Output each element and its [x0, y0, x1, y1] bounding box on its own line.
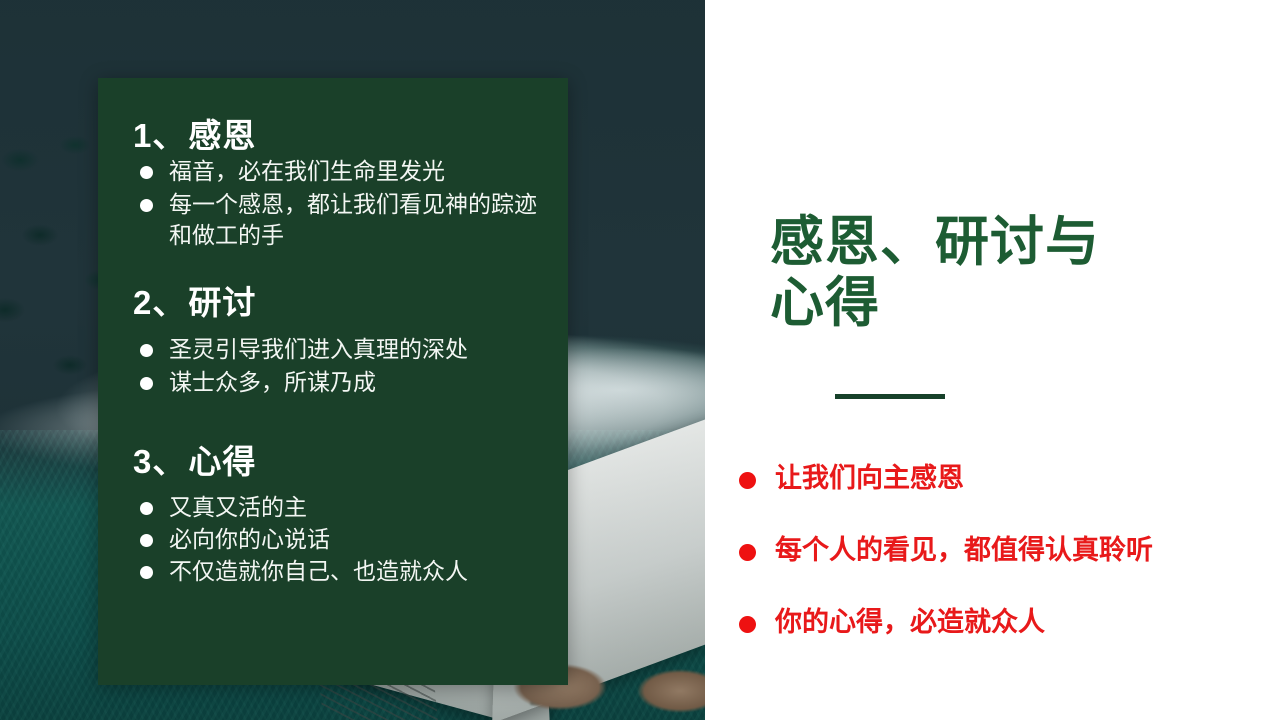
- section-3-title: 心得: [188, 443, 256, 480]
- list-item: 谋士众多，所谋乃成: [133, 367, 542, 398]
- right-panel: 感恩、研讨与 心得 让我们向主感恩 每个人的看见，都值得认真聆听 你的心得，必造…: [705, 0, 1280, 720]
- list-item: 福音，必在我们生命里发光: [133, 156, 542, 187]
- section-2-heading: 2、研讨: [133, 285, 542, 321]
- section-1-number: 1、: [133, 117, 186, 154]
- list-item: 又真又活的主: [133, 492, 542, 523]
- content-card: 1、感恩 福音，必在我们生命里发光 每一个感恩，都让我们看见神的踪迹和做工的手 …: [98, 78, 568, 685]
- page-title-line-2: 心得: [770, 273, 1240, 334]
- key-point-item: 你的心得，必造就众人: [725, 607, 1270, 638]
- section-1-title: 感恩: [188, 117, 256, 154]
- section-3-number: 3、: [133, 443, 186, 480]
- key-point-item: 每个人的看见，都值得认真聆听: [725, 535, 1270, 566]
- slide-canvas: 1、感恩 福音，必在我们生命里发光 每一个感恩，都让我们看见神的踪迹和做工的手 …: [0, 0, 1280, 720]
- section-3-list: 又真又活的主 必向你的心说话 不仅造就你自己、也造就众人: [133, 492, 542, 587]
- key-point-item: 让我们向主感恩: [725, 463, 1270, 494]
- list-item: 必向你的心说话: [133, 524, 542, 555]
- page-title-line-1: 感恩、研讨与: [770, 212, 1240, 273]
- section-2-list: 圣灵引导我们进入真理的深处 谋士众多，所谋乃成: [133, 334, 542, 398]
- list-item: 每一个感恩，都让我们看见神的踪迹和做工的手: [133, 189, 542, 251]
- section-1-list: 福音，必在我们生命里发光 每一个感恩，都让我们看见神的踪迹和做工的手: [133, 156, 542, 251]
- title-divider-rule: [835, 394, 945, 399]
- page-title: 感恩、研讨与 心得: [770, 212, 1240, 334]
- section-2-title: 研讨: [188, 284, 256, 321]
- section-2-number: 2、: [133, 284, 186, 321]
- section-3-heading: 3、心得: [133, 444, 542, 480]
- key-points-list: 让我们向主感恩 每个人的看见，都值得认真聆听 你的心得，必造就众人: [725, 463, 1270, 679]
- list-item: 圣灵引导我们进入真理的深处: [133, 334, 542, 365]
- section-1-heading: 1、感恩: [133, 118, 542, 154]
- list-item: 不仅造就你自己、也造就众人: [133, 556, 542, 587]
